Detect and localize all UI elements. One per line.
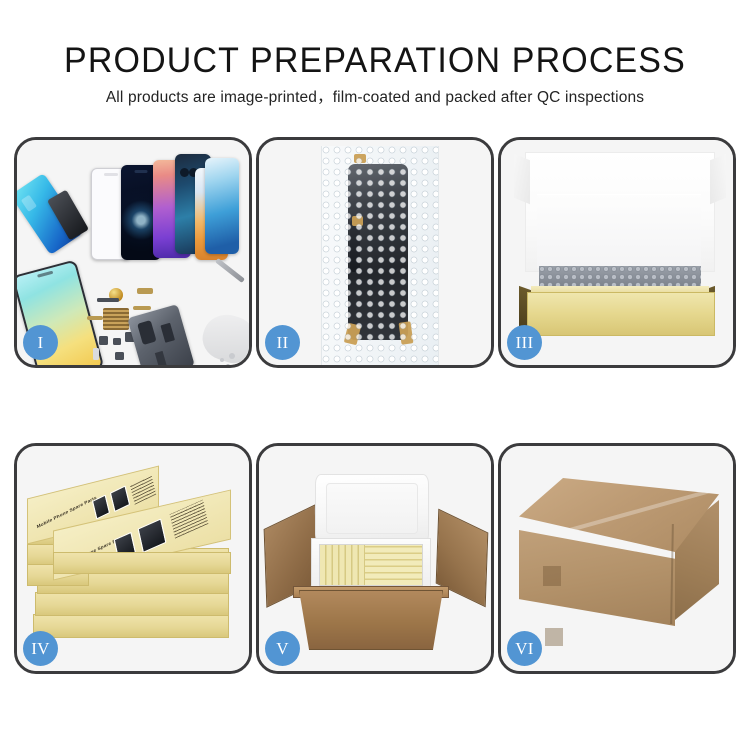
box-label-spec-lines — [170, 500, 209, 539]
step-badge-2: II — [265, 325, 300, 360]
chip-part — [97, 298, 119, 302]
process-step-panel-4: Mobile Phone Spare Parts Mobile Phone Sp… — [14, 443, 252, 674]
step-badge-1: I — [23, 325, 58, 360]
gloved-hand — [197, 308, 252, 367]
box-label-thumbnail — [110, 485, 130, 512]
cyan-gradient-phone — [205, 158, 239, 254]
page-title: PRODUCT PREPARATION PROCESS — [11, 42, 739, 80]
stacked-box-layer — [33, 614, 229, 638]
tape-tab — [344, 323, 361, 346]
camera-flex-part — [137, 288, 153, 294]
process-step-panel-6: VI — [498, 443, 736, 674]
tape-tab — [399, 321, 414, 344]
tape-tab — [354, 154, 366, 163]
stacked-box-layer — [35, 592, 229, 616]
flex-cable-part — [87, 316, 103, 320]
process-step-panel-1: I — [14, 137, 252, 368]
process-step-grid: I II — [14, 137, 736, 677]
carton-front-panel — [299, 590, 443, 650]
step-badge-6: VI — [507, 631, 542, 666]
step-badge-4: IV — [23, 631, 58, 666]
process-step-panel-2: II — [256, 137, 494, 368]
flex-cable-part — [133, 306, 151, 310]
carton-tape-patch — [543, 566, 561, 586]
chip-part — [99, 336, 108, 345]
tweezers-tool — [215, 258, 245, 283]
process-step-panel-3: III — [498, 137, 736, 368]
tape-tab — [352, 216, 363, 226]
box-label-spec-lines — [130, 474, 156, 504]
sim-tray-part — [93, 348, 99, 360]
step-badge-5: V — [265, 631, 300, 666]
speaker-mesh-part — [103, 308, 129, 330]
box-label-thumbnail — [138, 518, 167, 553]
screws-parts — [229, 353, 235, 359]
chip-part — [113, 338, 121, 345]
page-subtitle: All products are image-printed，film-coat… — [0, 88, 750, 108]
sealed-carton — [519, 478, 719, 646]
box-inner-foam-sheet — [537, 194, 701, 268]
box-front-panel — [527, 292, 715, 336]
step-badge-3: III — [507, 325, 542, 360]
packed-yellow-boxes — [319, 544, 423, 586]
process-step-panel-5: V — [256, 443, 494, 674]
product-preparation-infographic: PRODUCT PREPARATION PROCESS All products… — [0, 0, 750, 750]
carton-tape-patch — [545, 628, 563, 646]
styrofoam-lid — [315, 474, 429, 544]
bubble-wrap-bag — [321, 146, 439, 365]
screen-flex-cable — [350, 220, 360, 272]
phone-back-housing — [127, 304, 195, 368]
chip-part — [115, 352, 124, 360]
box-stack: Mobile Phone Spare Parts Mobile Phone Sp… — [27, 468, 243, 664]
stacked-box-layer — [53, 552, 231, 574]
